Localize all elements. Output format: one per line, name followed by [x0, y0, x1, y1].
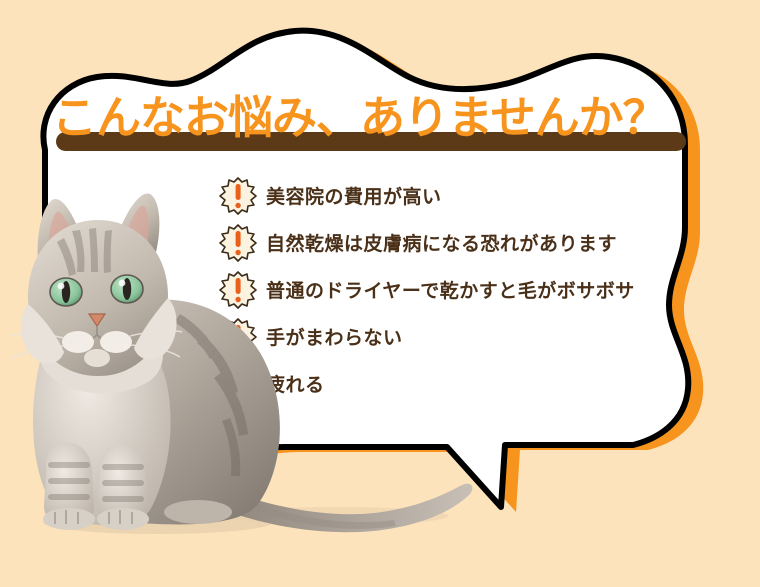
exclamation-burst-icon	[218, 270, 258, 310]
concern-text: 手がまわらない	[266, 323, 403, 350]
cat-front-leg-right	[98, 445, 148, 524]
exclamation-burst-icon	[218, 364, 258, 404]
concern-text: 普通のドライヤーで乾かすと毛がボサボサ	[266, 276, 635, 303]
list-item: 自然乾燥は皮膚病になる恐れがあります	[218, 219, 718, 266]
list-item: 美容院の費用が高い	[218, 172, 718, 219]
concern-text: 疲れる	[266, 370, 325, 397]
cat-chest	[33, 312, 171, 525]
concern-text: 自然乾燥は皮膚病になる恐れがあります	[266, 229, 617, 256]
page-title: こんなお悩み、ありませんか？	[52, 92, 692, 144]
cat-tail	[208, 484, 472, 533]
cat-eye-right	[111, 275, 143, 303]
concern-text: 美容院の費用が高い	[266, 182, 442, 209]
exclamation-burst-icon	[218, 176, 258, 216]
exclamation-burst-icon	[218, 317, 258, 357]
concerns-list: 美容院の費用が高い 自然乾燥は皮膚病になる恐れがあります 普通のドライヤ	[218, 172, 718, 407]
list-item: 手がまわらない	[218, 313, 718, 360]
cat-eye-left	[50, 278, 82, 306]
cat-front-leg-left	[44, 443, 94, 524]
cat-ear-left	[38, 199, 82, 260]
poster-canvas: こんなお悩み、ありませんか？ 美容院の費用が高い 自然乾燥は皮	[0, 0, 760, 587]
list-item: 普通のドライヤーで乾かすと毛がボサボサ	[218, 266, 718, 313]
cat-ear-right	[118, 194, 159, 252]
cat-head	[28, 220, 168, 376]
heading-block: こんなお悩み、ありませんか？	[52, 92, 692, 154]
list-item: 疲れる	[218, 360, 718, 407]
cat-nose	[89, 314, 105, 326]
exclamation-burst-icon	[218, 223, 258, 263]
